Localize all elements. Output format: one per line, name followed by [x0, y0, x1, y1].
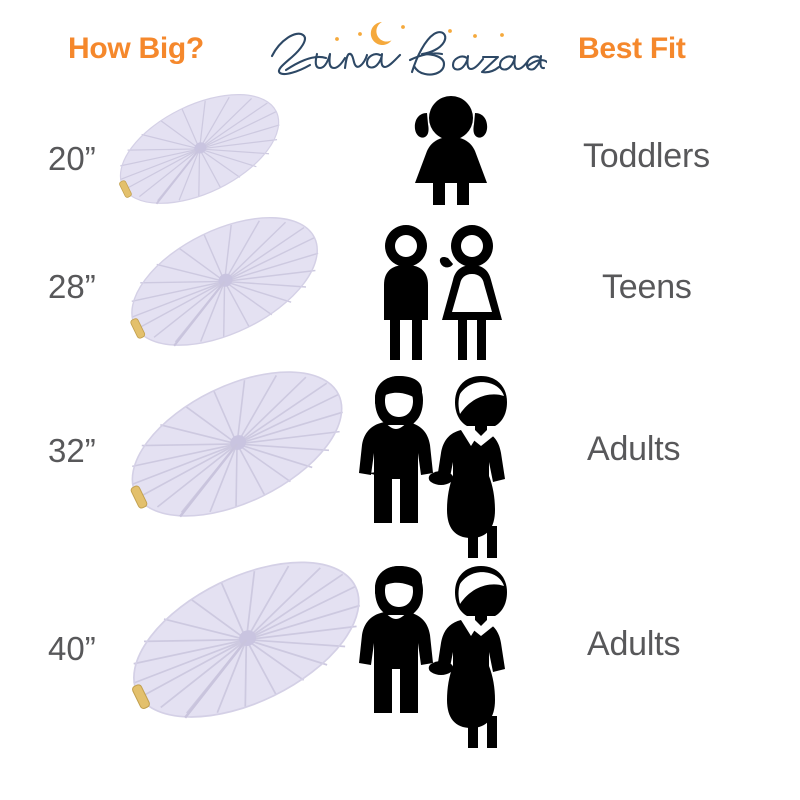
parasol-icon-28 [112, 210, 330, 360]
size-label-40: 40” [48, 630, 96, 668]
size-label-28: 28” [48, 268, 96, 306]
fit-label-toddlers: Toddlers [583, 137, 710, 176]
fit-label-adults-32: Adults [587, 430, 680, 469]
size-label-20: 20” [48, 140, 96, 178]
crescent-moon-icon [371, 22, 392, 45]
parasol-icon-32 [112, 362, 354, 534]
size-label-32: 32” [48, 432, 96, 470]
page-title-best-fit: Best Fit [578, 32, 686, 66]
parasol-icon-40 [112, 548, 372, 740]
parasol-size-guide-infographic: How Big? [0, 0, 800, 800]
luna-bazaar-logo [262, 14, 547, 84]
adult-man-and-woman-figures-icon-2 [357, 562, 535, 748]
teen-boy-and-girl-figures-icon [372, 222, 510, 362]
fit-label-teens: Teens [602, 268, 692, 307]
parasol-icon-20 [104, 88, 289, 216]
adult-man-and-woman-figures-icon [357, 372, 535, 558]
toddler-girl-figure-icon [397, 95, 505, 205]
page-title-how-big: How Big? [68, 32, 204, 66]
fit-label-adults-40: Adults [587, 625, 680, 664]
